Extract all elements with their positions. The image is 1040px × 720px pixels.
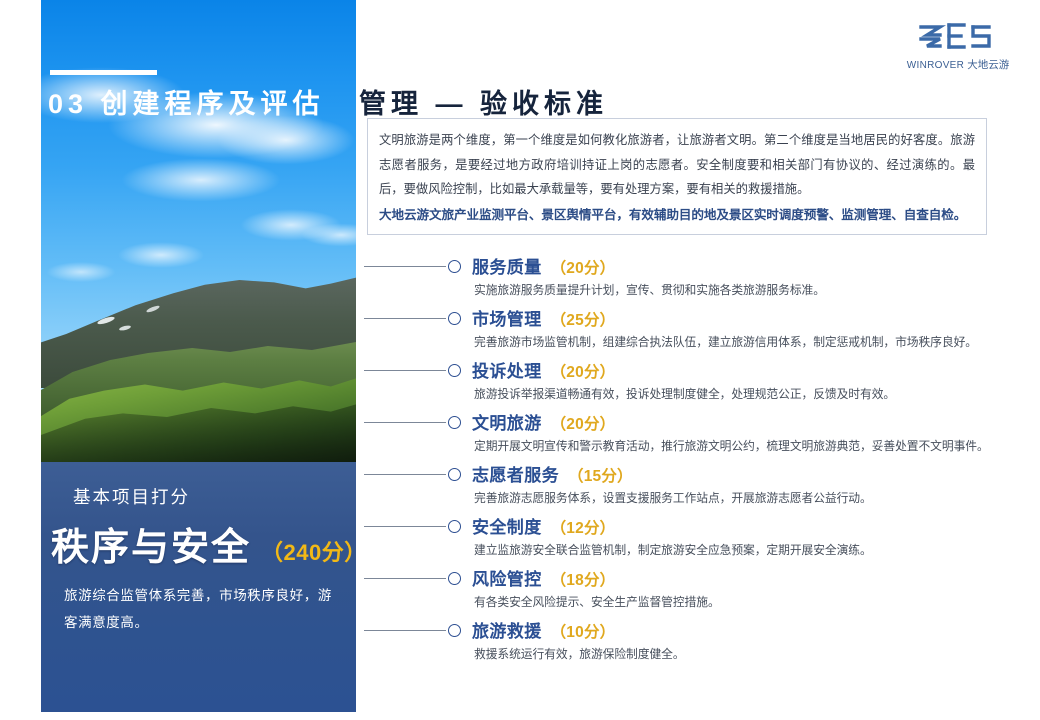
bullet-circle-icon xyxy=(448,312,461,325)
list-item-description: 救援系统运行有效，旅游保险制度健全。 xyxy=(474,645,685,662)
list-item[interactable]: 安全制度（12分） 建立监旅游安全联合监管机制，制定旅游安全应急预案，定期开展安… xyxy=(364,512,1004,564)
overview-accent-line: 大地云游文旅产业监测平台、景区舆情平台，有效辅助目的地及景区实时调度预警、监测管… xyxy=(379,204,975,227)
criteria-list: 服务质量（20分） 实施旅游服务质量提升计划，宣传、贯彻和实施各类旅游服务标准。… xyxy=(364,252,1004,668)
connector-line xyxy=(364,526,446,527)
connector-line xyxy=(364,318,446,319)
card-eyebrow: 基本项目打分 xyxy=(73,484,190,509)
list-item[interactable]: 市场管理（25分） 完善旅游市场监管机制，组建综合执法队伍，建立旅游信用体系，制… xyxy=(364,304,1004,356)
list-item-title: 投诉处理 xyxy=(472,362,542,381)
list-item-description: 完善旅游市场监管机制，组建综合执法队伍，建立旅游信用体系，制定惩戒机制，市场秩序… xyxy=(474,333,977,350)
overview-paragraph: 文明旅游是两个维度，第一个维度是如何教化旅游者，让旅游者文明。第二个维度是当地居… xyxy=(379,128,975,202)
list-item-head: 安全制度（12分） xyxy=(472,513,615,538)
list-item-score: （25分） xyxy=(551,312,616,329)
connector-line xyxy=(364,630,446,631)
list-item-head: 风险管控（18分） xyxy=(472,565,615,590)
list-item-title: 服务质量 xyxy=(472,258,542,277)
connector-line xyxy=(364,578,446,579)
list-item[interactable]: 旅游救援（10分） 救援系统运行有效，旅游保险制度健全。 xyxy=(364,616,1004,668)
bullet-circle-icon xyxy=(448,520,461,533)
logo-chinese: 大地云游 xyxy=(967,59,1009,71)
bullet-circle-icon xyxy=(448,624,461,637)
winrover-mark-icon xyxy=(915,18,1001,54)
bullet-circle-icon xyxy=(448,364,461,377)
list-item[interactable]: 服务质量（20分） 实施旅游服务质量提升计划，宣传、贯彻和实施各类旅游服务标准。 xyxy=(364,252,1004,304)
bullet-circle-icon xyxy=(448,572,461,585)
list-item-score: （20分） xyxy=(551,260,616,277)
page-title-right: 管理 — 验收标准 xyxy=(359,82,608,121)
card-score: （240分） xyxy=(261,540,367,565)
title-underline-rule xyxy=(50,70,157,75)
list-item-title: 旅游救援 xyxy=(472,622,542,641)
card-body-text: 旅游综合监管体系完善，市场秩序良好，游客满意度高。 xyxy=(64,582,332,636)
list-item-head: 旅游救援（10分） xyxy=(472,617,615,642)
list-item-score: （12分） xyxy=(551,520,616,537)
list-item[interactable]: 投诉处理（20分） 旅游投诉举报渠道畅通有效，投诉处理制度健全，处理规范公正，反… xyxy=(364,356,1004,408)
list-item[interactable]: 风险管控（18分） 有各类安全风险提示、安全生产监督管控措施。 xyxy=(364,564,1004,616)
overview-textbox: 文明旅游是两个维度，第一个维度是如何教化旅游者，让旅游者文明。第二个维度是当地居… xyxy=(367,118,987,235)
list-item-description: 定期开展文明宣传和警示教育活动，推行旅游文明公约，梳理文明旅游典范，妥善处置不文… xyxy=(474,437,989,454)
list-item-title: 志愿者服务 xyxy=(472,466,559,485)
list-item-description: 旅游投诉举报渠道畅通有效，投诉处理制度健全，处理规范公正，反馈及时有效。 xyxy=(474,385,895,402)
brand-logo: WINROVER 大地云游 xyxy=(898,18,1018,72)
list-item-head: 文明旅游（20分） xyxy=(472,409,615,434)
list-item-head: 市场管理（25分） xyxy=(472,305,615,330)
logo-wordmark: WINROVER 大地云游 xyxy=(898,57,1018,72)
list-item-title: 风险管控 xyxy=(472,570,542,589)
connector-line xyxy=(364,474,446,475)
logo-latin: WINROVER xyxy=(907,60,964,71)
list-item-title: 文明旅游 xyxy=(472,414,542,433)
list-item-score: （18分） xyxy=(551,572,616,589)
bullet-circle-icon xyxy=(448,260,461,273)
list-item-description: 有各类安全风险提示、安全生产监督管控措施。 xyxy=(474,593,720,610)
list-item-title: 安全制度 xyxy=(472,518,542,537)
list-item-head: 服务质量（20分） xyxy=(472,253,615,278)
list-item-score: （20分） xyxy=(551,416,616,433)
list-item-score: （15分） xyxy=(568,468,633,485)
list-item-description: 实施旅游服务质量提升计划，宣传、贯彻和实施各类旅游服务标准。 xyxy=(474,281,825,298)
list-item-score: （10分） xyxy=(551,624,616,641)
bullet-circle-icon xyxy=(448,416,461,429)
slide-root: 03 创建程序及评估 管理 — 验收标准 WINROVER 大地云游 文明旅游是… xyxy=(0,0,1040,720)
page-title-left: 03 创建程序及评估 xyxy=(48,82,325,121)
list-item-description: 建立监旅游安全联合监管机制，制定旅游安全应急预案，定期开展安全演练。 xyxy=(474,541,872,558)
connector-line xyxy=(364,422,446,423)
list-item-title: 市场管理 xyxy=(472,310,542,329)
list-item-description: 完善旅游志愿服务体系，设置支援服务工作站点，开展旅游志愿者公益行动。 xyxy=(474,489,872,506)
list-item-score: （20分） xyxy=(551,364,616,381)
card-heading: 秩序与安全 xyxy=(51,527,251,569)
list-item[interactable]: 志愿者服务（15分） 完善旅游志愿服务体系，设置支援服务工作站点，开展旅游志愿者… xyxy=(364,460,1004,512)
bullet-circle-icon xyxy=(448,468,461,481)
list-item[interactable]: 文明旅游（20分） 定期开展文明宣传和警示教育活动，推行旅游文明公约，梳理文明旅… xyxy=(364,408,1004,460)
connector-line xyxy=(364,266,446,267)
list-item-head: 志愿者服务（15分） xyxy=(472,461,633,486)
list-item-head: 投诉处理（20分） xyxy=(472,357,615,382)
card-heading-row: 秩序与安全（240分） xyxy=(51,516,367,571)
connector-line xyxy=(364,370,446,371)
